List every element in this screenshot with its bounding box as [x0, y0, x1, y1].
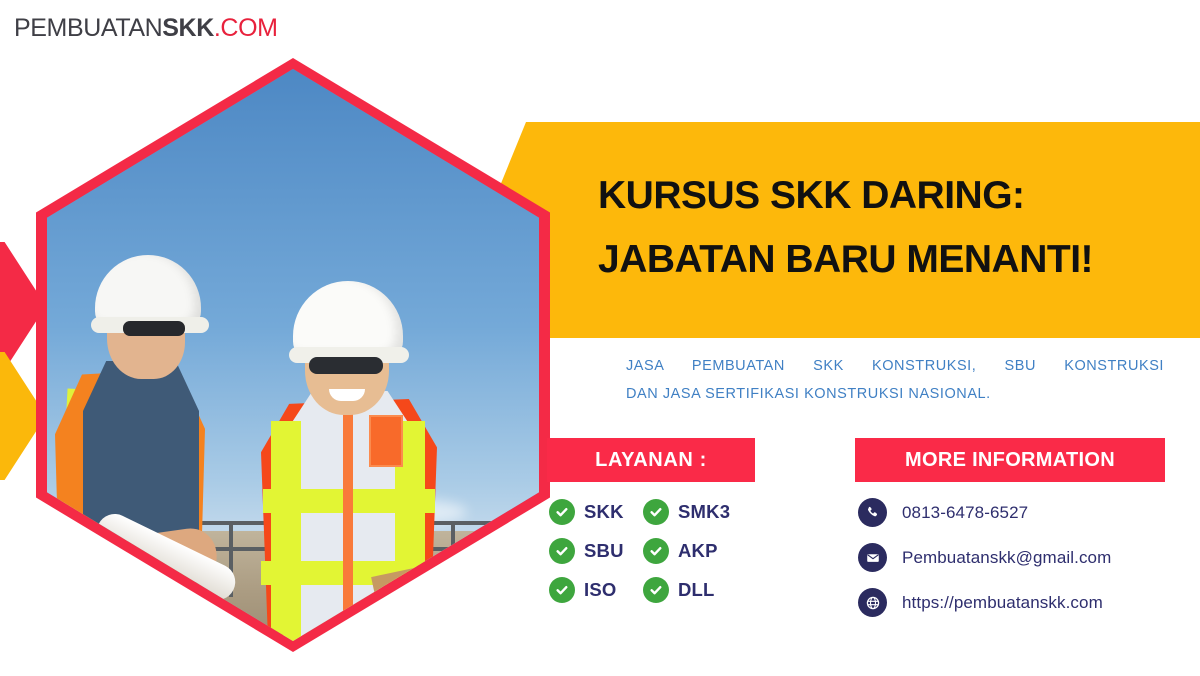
service-item[interactable]: SKK [549, 499, 643, 525]
photo-steel-column [499, 521, 503, 593]
service-item[interactable]: DLL [643, 577, 753, 603]
check-circle-icon [549, 538, 575, 564]
photo-worker-right-sunglasses [309, 357, 383, 374]
photo-worker-left-sunglasses [123, 321, 185, 336]
contact-website[interactable]: https://pembuatanskk.com [858, 582, 1178, 623]
subtitle: JASA PEMBUATAN SKK KONSTRUKSI, SBU KONST… [626, 352, 1164, 408]
hexagon-photo-frame [36, 58, 550, 652]
worker-photo [47, 69, 539, 641]
check-circle-icon [643, 538, 669, 564]
subtitle-line-1: JASA PEMBUATAN SKK KONSTRUKSI, SBU KONST… [626, 352, 1164, 380]
photo-steel-column [451, 521, 455, 593]
service-label: AKP [678, 540, 718, 562]
contact-email-value: Pembuatanskk@gmail.com [902, 548, 1111, 568]
subtitle-line-2: DAN JASA SERTIFIKASI KONSTRUKSI NASIONAL… [626, 380, 1164, 408]
headline-line-1: KURSUS SKK DARING: [598, 164, 1178, 228]
contact-heading-badge: MORE INFORMATION [855, 438, 1165, 482]
check-circle-icon [549, 499, 575, 525]
promo-banner: PEMBUATANSKK.COM KURSUS SKK DARING: JABA… [0, 0, 1200, 676]
photo-worker-right-vest-zipper [343, 405, 353, 641]
service-label: DLL [678, 579, 715, 601]
services-list: SKK SMK3 SBU AKP ISO [549, 492, 789, 609]
service-item[interactable]: SBU [549, 538, 643, 564]
globe-icon [858, 588, 887, 617]
service-label: SKK [584, 501, 624, 523]
site-logo[interactable]: PEMBUATANSKK.COM [14, 14, 278, 43]
logo-text-com: .COM [214, 14, 278, 42]
logo-text-skk: SKK [162, 14, 214, 42]
contact-list: 0813-6478-6527 Pembuatanskk@gmail.com ht… [858, 492, 1178, 627]
check-circle-icon [549, 577, 575, 603]
logo-text-pembuatan: PEMBUATAN [14, 14, 162, 42]
contact-phone-value: 0813-6478-6527 [902, 503, 1028, 523]
phone-icon [858, 498, 887, 527]
photo-worker-right-vest-stripe [271, 421, 301, 641]
envelope-icon [858, 543, 887, 572]
services-heading-badge: LAYANAN : [547, 438, 755, 482]
service-label: SMK3 [678, 501, 730, 523]
service-item[interactable]: ISO [549, 577, 643, 603]
headline-line-2: JABATAN BARU MENANTI! [598, 228, 1178, 292]
page-title: KURSUS SKK DARING: JABATAN BARU MENANTI! [598, 164, 1178, 292]
contact-website-value: https://pembuatanskk.com [902, 593, 1103, 613]
contact-email[interactable]: Pembuatanskk@gmail.com [858, 537, 1178, 578]
check-circle-icon [643, 499, 669, 525]
service-item[interactable]: AKP [643, 538, 753, 564]
service-item[interactable]: SMK3 [643, 499, 753, 525]
service-label: ISO [584, 579, 616, 601]
photo-worker-right-vest-pocket [369, 415, 403, 467]
contact-phone[interactable]: 0813-6478-6527 [858, 492, 1178, 533]
check-circle-icon [643, 577, 669, 603]
service-label: SBU [584, 540, 624, 562]
